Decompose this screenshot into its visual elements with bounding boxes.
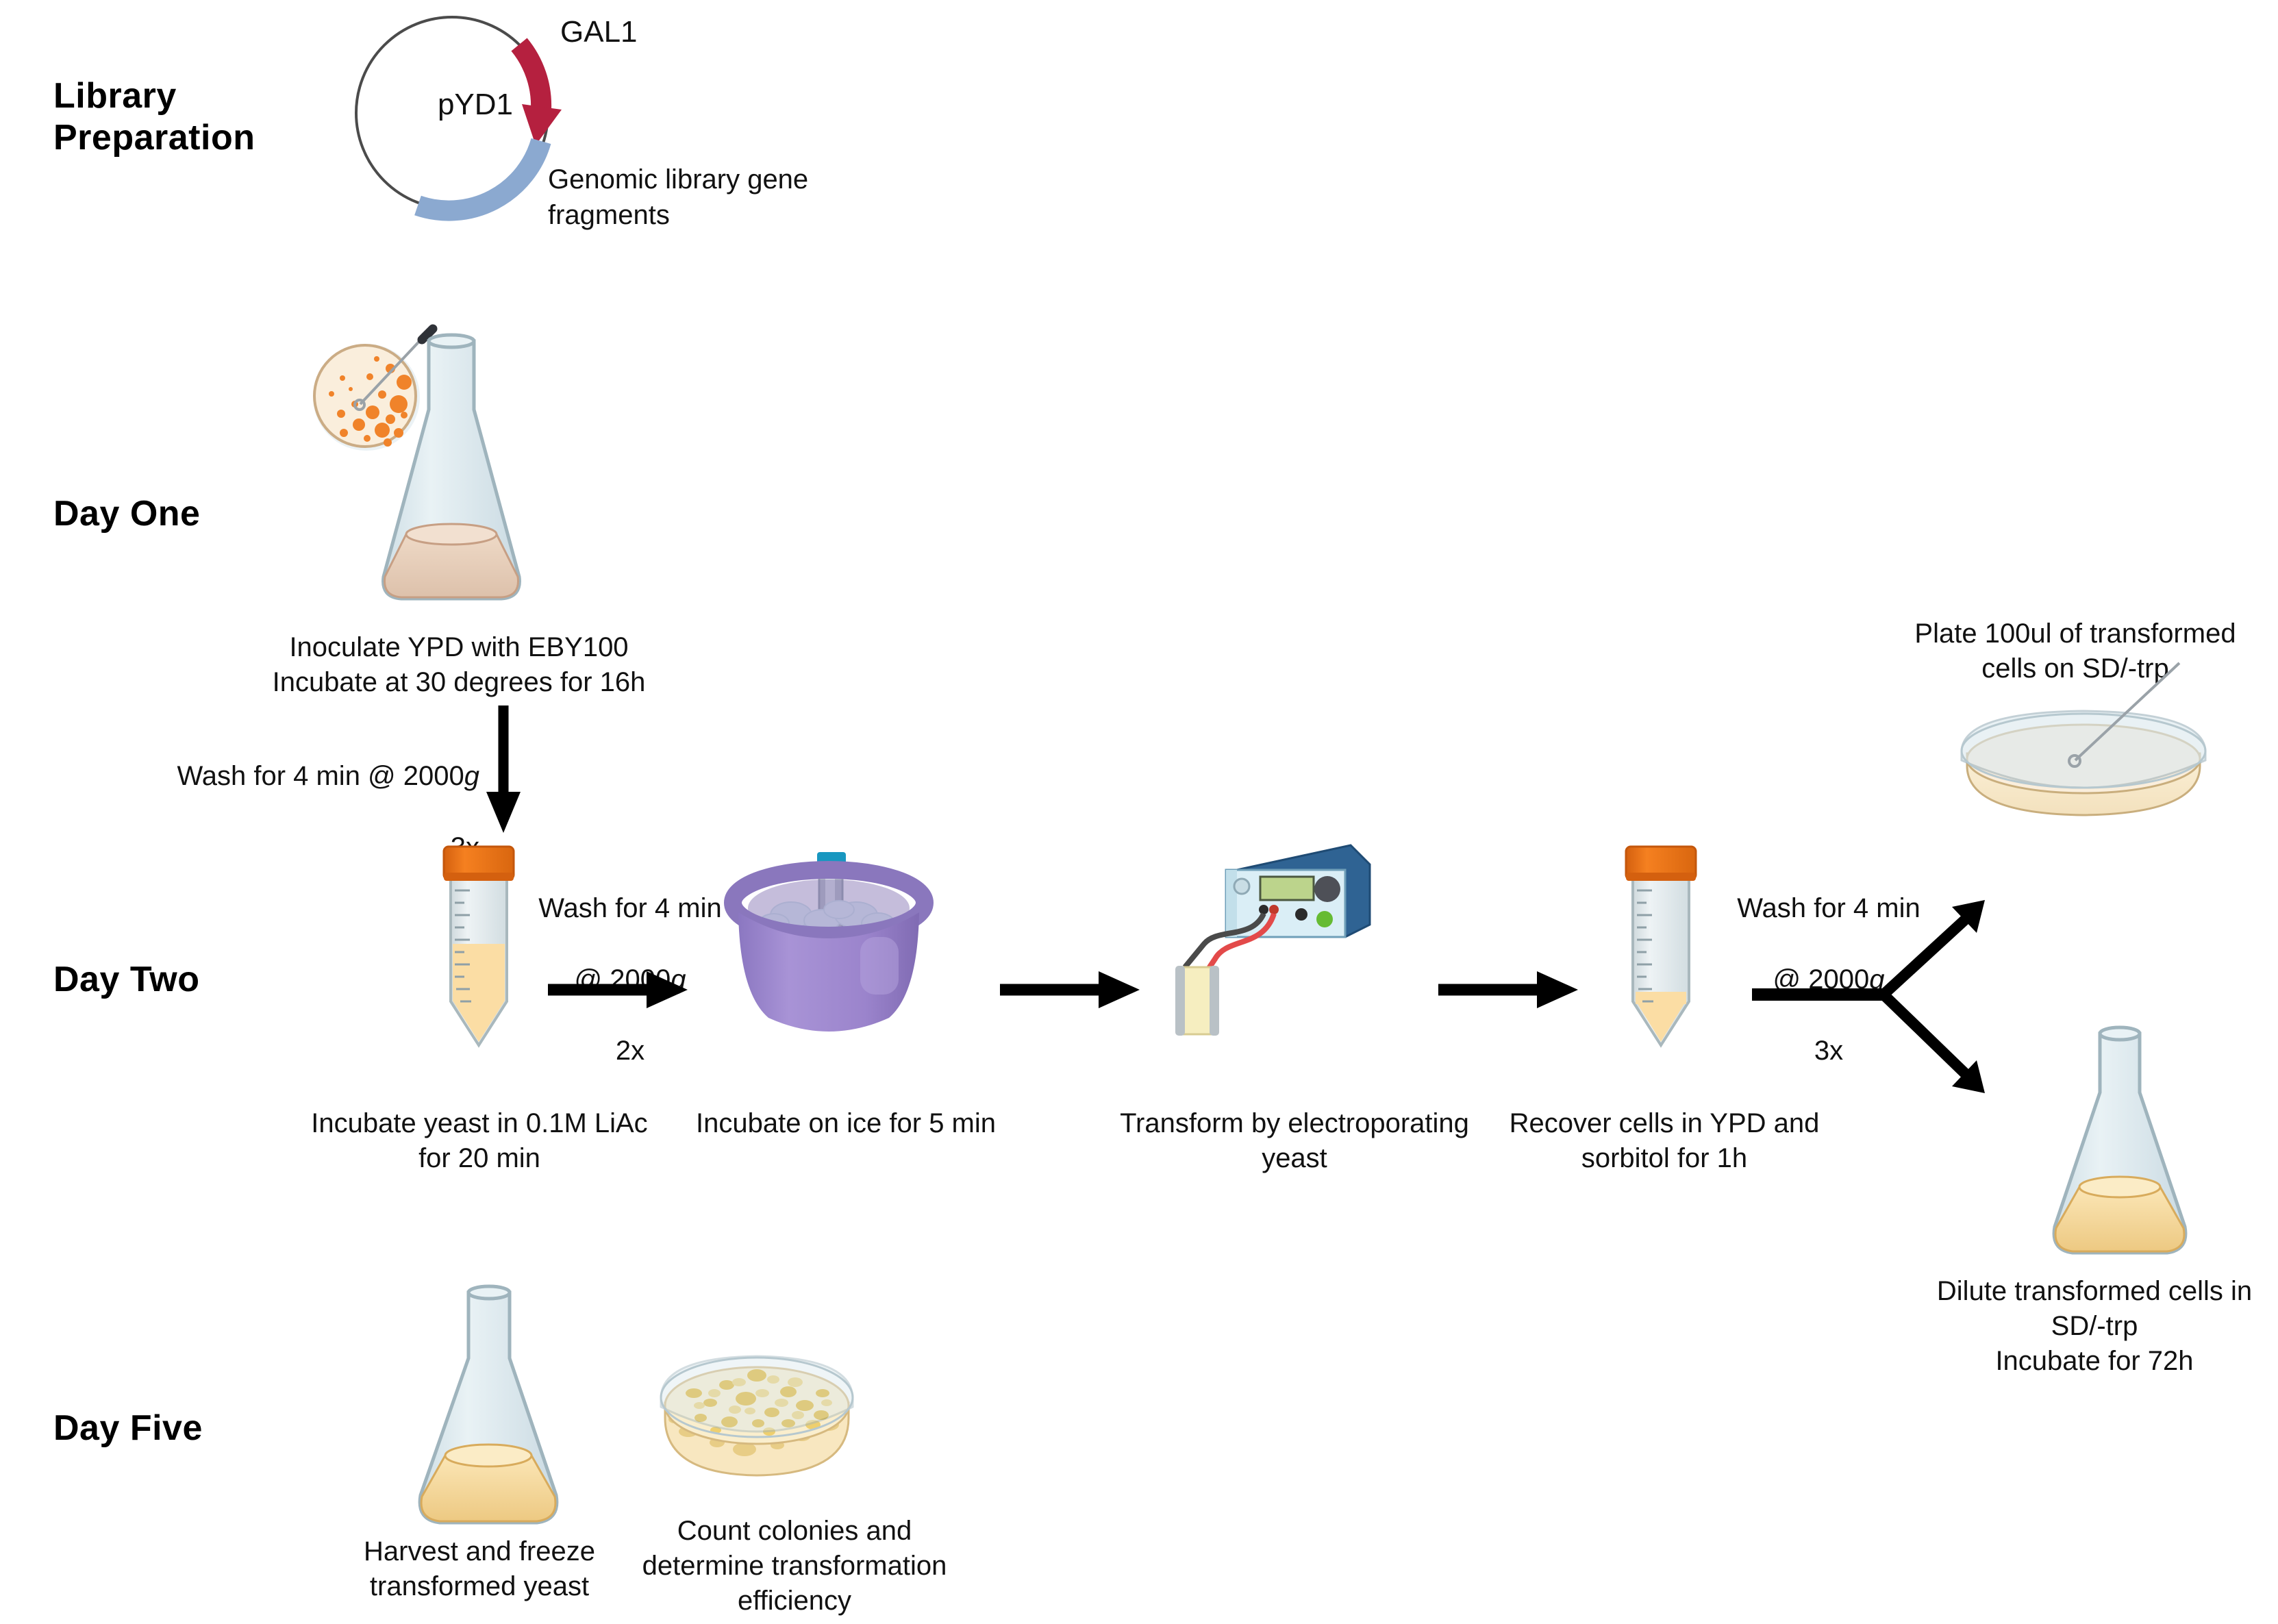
petri-dish-3d-plating xyxy=(1938,685,2240,836)
petri-dish-topdown-icon xyxy=(313,329,433,451)
row-label-day-five: Day Five xyxy=(53,1408,286,1449)
plate-branch-caption: Plate 100ul of transformed cells on SD/-… xyxy=(1877,616,2274,686)
day-two-caption-ice: Incubate on ice for 5 min xyxy=(685,1106,1007,1141)
day-one-illustration xyxy=(301,329,616,616)
petri-dish-colonies xyxy=(654,1322,860,1500)
day-two-caption-liac: Incubate yeast in 0.1M LiAc for 20 min xyxy=(288,1106,671,1176)
gal1-label: GAL1 xyxy=(560,15,638,49)
row-label-day-one: Day One xyxy=(53,493,286,535)
erlenmeyer-flask-dilute xyxy=(2022,1024,2220,1271)
arrow-right-step3-step4 xyxy=(1438,966,1582,1014)
lcd-display-icon xyxy=(1260,877,1314,900)
wash2x-line-1: Wash for 4 min xyxy=(538,893,721,923)
wash-annotation-2x: Wash for 4 min @ 2000g 2x xyxy=(527,855,733,1069)
electroporator xyxy=(1164,837,1397,1063)
arrow-right-step2-step3 xyxy=(1000,966,1144,1014)
row-label-library-preparation: Library Preparation xyxy=(53,75,286,160)
electroporator-device-icon xyxy=(1226,845,1370,937)
day-one-caption: Inoculate YPD with EBY100 Incubate at 30… xyxy=(233,630,685,700)
conical-tube-liac xyxy=(434,842,523,1055)
led-green-icon xyxy=(1316,911,1333,927)
genomic-insert-arc-icon xyxy=(418,141,541,211)
plasmid-name-label: pYD1 xyxy=(407,88,544,122)
dilute-branch-caption: Dilute transformed cells in SD/-trp Incu… xyxy=(1911,1274,2278,1379)
erlenmeyer-flask-harvest xyxy=(389,1284,588,1541)
wash-line-1: Wash for 4 min @ 2000 xyxy=(177,761,464,791)
port-icon xyxy=(1295,908,1307,921)
knob-icon xyxy=(1314,876,1340,902)
row-label-day-two: Day Two xyxy=(53,959,286,1001)
wash2x-line-3: 2x xyxy=(616,1036,644,1066)
branching-arrow xyxy=(1747,877,2020,1110)
arrow-down-day-one-to-day-two xyxy=(473,705,534,836)
power-icon xyxy=(1234,879,1249,894)
electroporation-cuvette-icon xyxy=(1175,966,1219,1036)
day-five-caption-count: Count colonies and determine transformat… xyxy=(637,1514,952,1619)
wash-annotation-day-one: Wash for 4 min @ 2000g 3x xyxy=(96,723,479,865)
genomic-insert-label: Genomic library gene fragments xyxy=(548,162,918,233)
day-two-caption-electroporate: Transform by electroporating yeast xyxy=(1110,1106,1479,1176)
ice-bucket xyxy=(726,849,931,1048)
day-two-caption-recover: Recover cells in YPD and sorbitol for 1h xyxy=(1493,1106,1836,1176)
arrow-right-step1-step2 xyxy=(548,966,692,1014)
conical-tube-recovery xyxy=(1616,842,1705,1055)
day-five-caption-harvest: Harvest and freeze transformed yeast xyxy=(308,1534,651,1604)
